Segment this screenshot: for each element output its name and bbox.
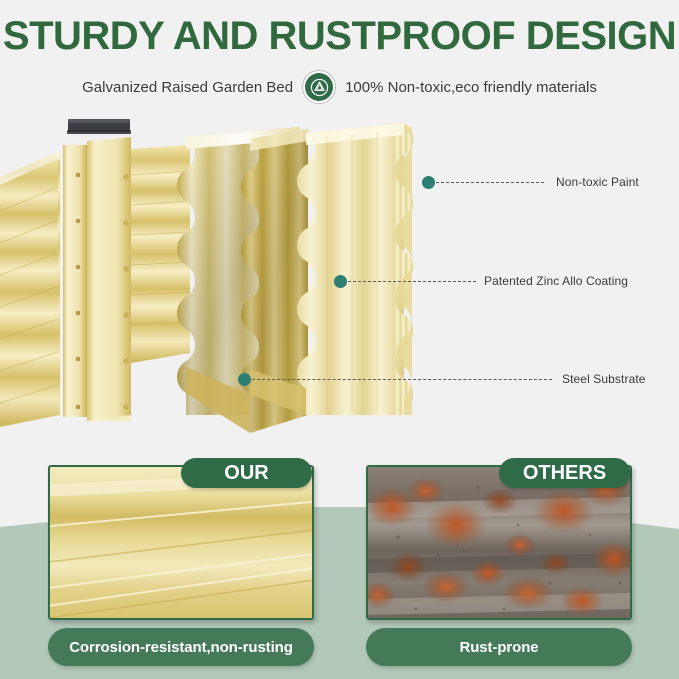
header: STURDY AND RUSTPROOF DESIGN Galvanized R… (0, 0, 679, 104)
callout-dot-non-toxic-paint (422, 176, 435, 189)
callout-label-non-toxic-paint: Non-toxic Paint (556, 175, 639, 189)
our-badge: OUR (181, 458, 312, 488)
subtitle-left: Galvanized Raised Garden Bed (82, 79, 293, 96)
others-product-photo (366, 465, 632, 620)
callout-line-steel-substrate (252, 379, 552, 380)
callout-label-steel-substrate: Steel Substrate (562, 372, 646, 386)
left-corrugated-wall (0, 159, 58, 425)
others-caption: Rust-prone (366, 628, 632, 666)
comparison-panel-others: OTHERS Rust-prone (366, 458, 632, 658)
page-title: STURDY AND RUSTPROOF DESIGN (0, 14, 679, 58)
callout-line-zinc-coating (348, 281, 476, 282)
eco-leaf-icon (302, 70, 336, 104)
callout-dot-steel-substrate (238, 373, 251, 386)
infographic-page: STURDY AND RUSTPROOF DESIGN Galvanized R… (0, 0, 679, 679)
callout-dot-zinc-coating (334, 275, 347, 288)
subtitle-row: Galvanized Raised Garden Bed 100% Non-to… (0, 70, 679, 104)
others-badge: OTHERS (499, 458, 630, 488)
callout-label-zinc-coating: Patented Zinc Allo Coating (484, 274, 628, 288)
callout-line-non-toxic-paint (436, 182, 544, 183)
our-product-photo (48, 465, 314, 620)
subtitle-right: 100% Non-toxic,eco friendly materials (345, 79, 597, 96)
our-caption: Corrosion-resistant,non-rusting (48, 628, 314, 666)
comparison-panel-our: OUR Corrosion-resistant,non-rusting (48, 458, 314, 658)
sheet-nontoxic-paint (297, 123, 413, 415)
corner-post (63, 119, 131, 421)
